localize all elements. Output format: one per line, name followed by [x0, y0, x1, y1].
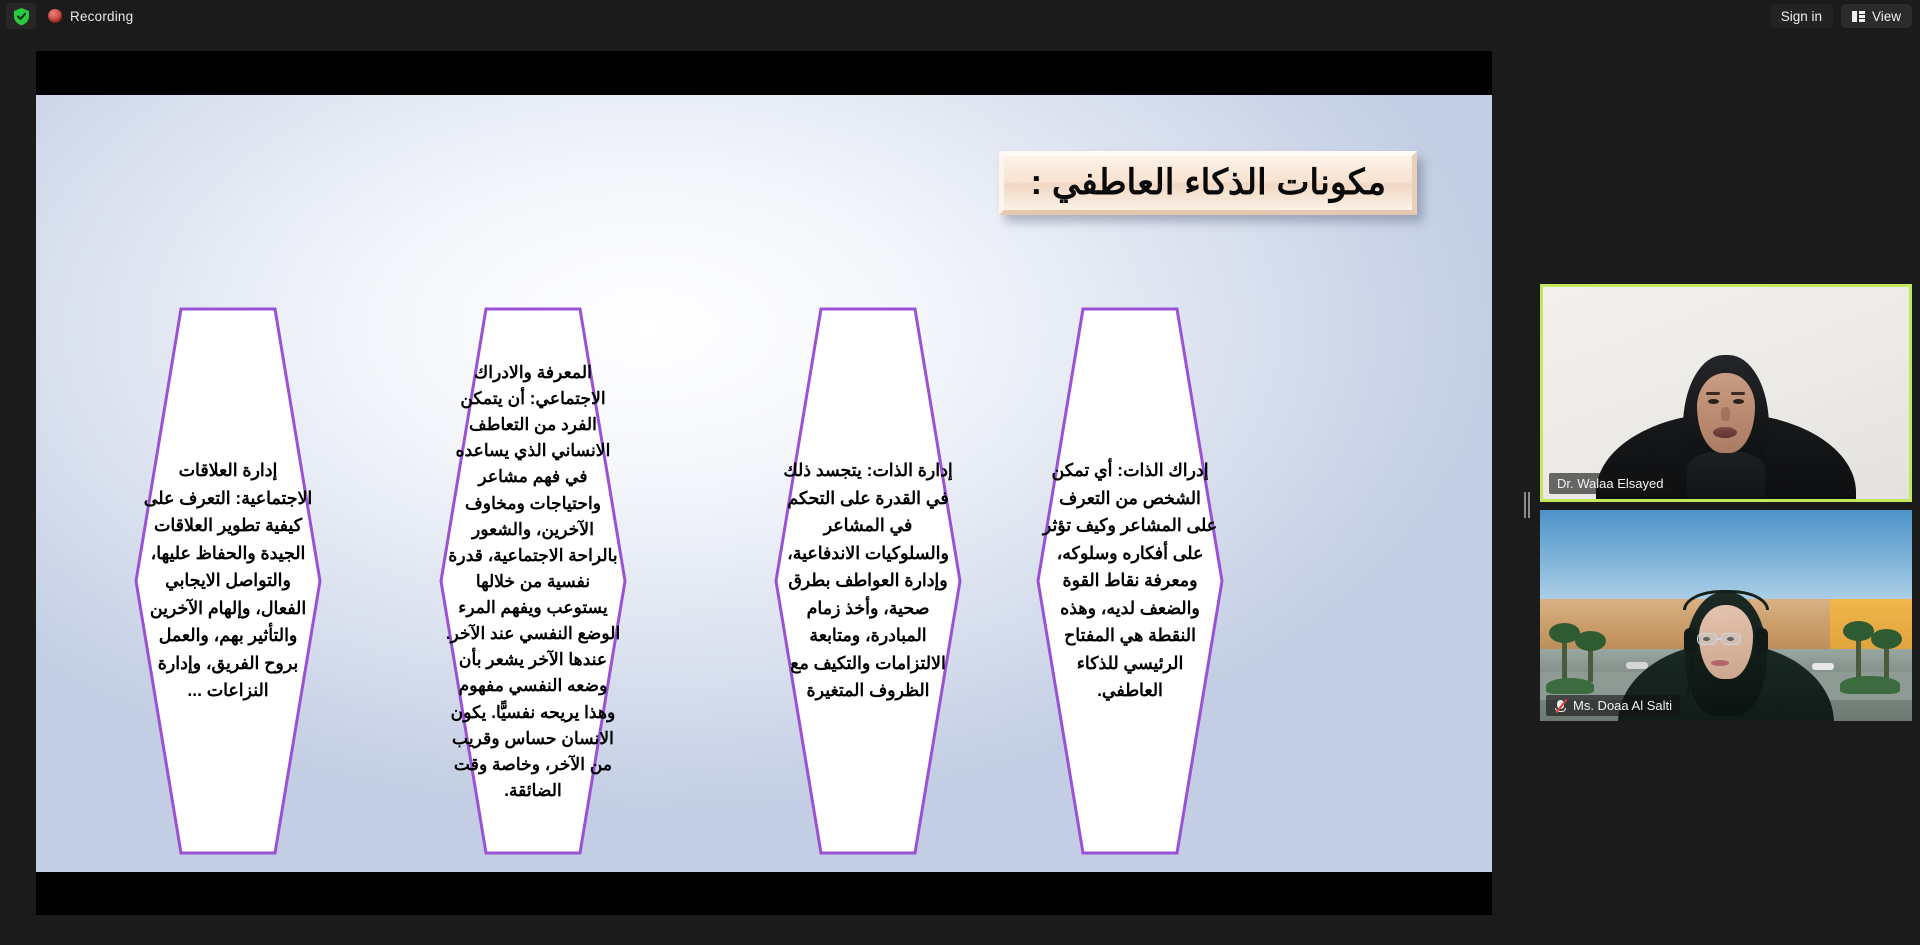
- recording-indicator-icon: [48, 9, 62, 23]
- video-feed: [1543, 287, 1909, 499]
- video-feed: [1540, 510, 1912, 721]
- eyeglasses-icon: [1697, 633, 1717, 645]
- shared-screen-area[interactable]: مكونات الذكاء العاطفي : إدارة العلاقات ا…: [36, 51, 1492, 915]
- participant-name-badge: Dr. Walaa Elsayed: [1549, 473, 1671, 494]
- video-tile-dr-walaa-elsayed[interactable]: Dr. Walaa Elsayed: [1540, 284, 1912, 502]
- hexagon-relationship-management[interactable]: إدارة العلاقات الاجتماعية: التعرف على كي…: [134, 307, 322, 855]
- video-tile-ms-doaa-al-salti[interactable]: Ms. Doaa Al Salti: [1540, 510, 1912, 721]
- participant-eye-right: [1733, 399, 1744, 404]
- participant-nose: [1721, 407, 1730, 421]
- sign-in-label: Sign in: [1781, 9, 1822, 24]
- eyeglasses-icon: [1721, 633, 1741, 645]
- palm-tree-icon: [1562, 638, 1567, 680]
- page-title: مكونات الذكاء العاطفي :: [1030, 165, 1386, 202]
- participant-name-badge: Ms. Doaa Al Salti: [1546, 695, 1680, 716]
- microphone-muted-icon: [1554, 699, 1567, 713]
- car-shape: [1626, 662, 1648, 669]
- view-label: View: [1872, 9, 1901, 24]
- zoom-meeting-window: Recording Sign in View مكونات الذكاء الع…: [0, 0, 1920, 945]
- view-button[interactable]: View: [1841, 4, 1912, 28]
- hexagon-text: المعرفة والادراك الاجتماعي: أن يتمكن الف…: [441, 307, 625, 855]
- hexagon-text: إدارة العلاقات الاجتماعية: التعرف على كي…: [136, 307, 320, 855]
- hexagon-text: إدراك الذات: أي تمكن الشخص من التعرف على…: [1038, 307, 1222, 855]
- top-bar-right-controls: Sign in View: [1770, 0, 1912, 32]
- presentation-slide: مكونات الذكاء العاطفي : إدارة العلاقات ا…: [36, 95, 1492, 872]
- hexagon-self-awareness[interactable]: إدراك الذات: أي تمكن الشخص من التعرف على…: [1036, 307, 1224, 855]
- participant-name: Dr. Walaa Elsayed: [1557, 476, 1663, 491]
- participant-mouth: [1711, 660, 1729, 666]
- participant-mouth: [1713, 427, 1737, 438]
- recording-indicator[interactable]: Recording: [48, 9, 133, 24]
- slide-title-plaque: مكونات الذكاء العاطفي :: [999, 151, 1417, 215]
- palm-tree-icon: [1856, 636, 1861, 680]
- participant-neck: [1687, 452, 1765, 499]
- shrub-shape: [1546, 678, 1594, 694]
- palm-tree-icon: [1588, 646, 1593, 682]
- eyeglasses-bridge: [1717, 638, 1722, 640]
- hexagon-social-awareness[interactable]: المعرفة والادراك الاجتماعي: أن يتمكن الف…: [439, 307, 627, 855]
- participant-eyebrow-right: [1731, 392, 1745, 395]
- participant-name: Ms. Doaa Al Salti: [1573, 698, 1672, 713]
- layout-view-icon: [1852, 11, 1865, 22]
- car-shape: [1812, 663, 1834, 670]
- participant-eye-left: [1708, 399, 1719, 404]
- hexagon-text: إدارة الذات: يتجسد ذلك في القدرة على الت…: [776, 307, 960, 855]
- shield-check-icon[interactable]: [6, 3, 36, 29]
- hexagon-self-management[interactable]: إدارة الذات: يتجسد ذلك في القدرة على الت…: [774, 307, 962, 855]
- panel-resize-handle[interactable]: [1524, 492, 1530, 518]
- headset-earcup-right: [1755, 628, 1768, 654]
- participant-eyebrow-left: [1706, 392, 1720, 395]
- sign-in-button[interactable]: Sign in: [1770, 4, 1833, 28]
- recording-label: Recording: [70, 9, 133, 24]
- shrub-shape: [1840, 676, 1900, 694]
- window-top-bar: Recording Sign in View: [0, 0, 1920, 32]
- shield-check-glyph: [13, 7, 30, 26]
